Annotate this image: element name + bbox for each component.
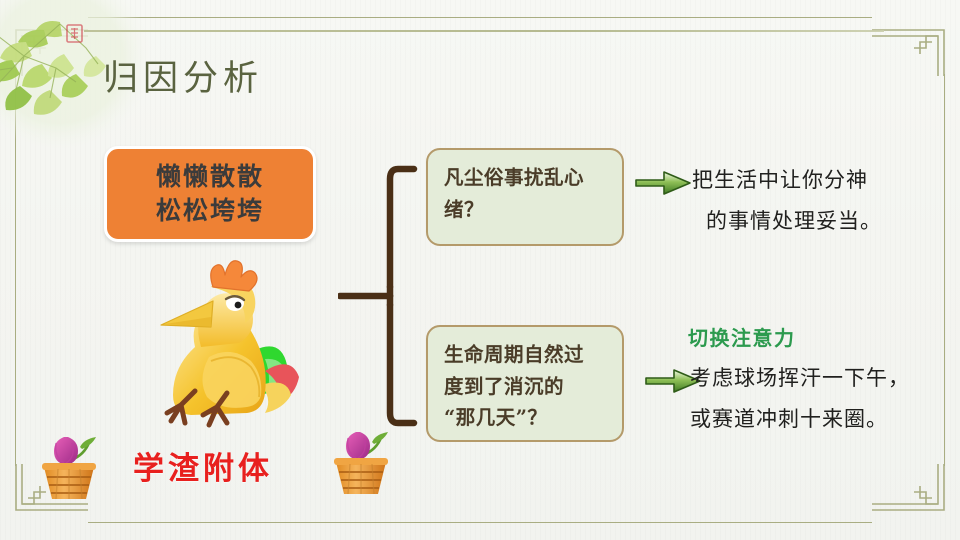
flower-basket-icon: [38, 425, 100, 503]
green-arrow-right-icon: [634, 168, 692, 198]
tired-rooster-icon: [135, 255, 305, 430]
red-seal-stamp-icon: [66, 24, 83, 43]
answer-line: 把生活中让你分神: [692, 160, 947, 201]
flower-basket-icon: [330, 420, 392, 498]
answer-heading: 切换注意力: [688, 322, 796, 351]
curly-brace-bracket-icon: [338, 163, 424, 429]
cause-box-line-2: 松松垮垮: [156, 194, 264, 229]
cause-box-line-1: 懒懒散散: [156, 160, 264, 195]
title-underline: [84, 30, 884, 32]
slide-canvas: 归因分析 懒懒散散 松松垮垮 凡尘俗事扰乱心 绪？ 生命周期自然过 度到了消沉的…: [0, 0, 960, 540]
question-box[interactable]: 生命周期自然过 度到了消沉的 “那几天”？: [426, 325, 624, 442]
question-line: “那几天”？: [444, 402, 606, 434]
question-box[interactable]: 凡尘俗事扰乱心 绪？: [426, 148, 624, 246]
question-line: 生命周期自然过: [444, 339, 606, 371]
frame-corner-icon: [868, 16, 946, 78]
frame-line-left: [15, 74, 16, 466]
answer-line: 考虑球场挥汗一下午，: [690, 358, 952, 399]
question-line: 凡尘俗事扰乱心: [444, 162, 606, 194]
answer-text: 把生活中让你分神 的事情处理妥当。: [692, 160, 947, 242]
page-title: 归因分析: [103, 50, 263, 101]
frame-corner-icon: [868, 462, 946, 524]
answer-line: 的事情处理妥当。: [706, 201, 947, 242]
cause-box[interactable]: 懒懒散散 松松垮垮: [104, 146, 316, 242]
frame-line-bottom: [88, 522, 872, 523]
frame-line-top: [88, 17, 872, 18]
question-line: 绪？: [444, 194, 606, 226]
answer-text: 考虑球场挥汗一下午， 或赛道冲刺十来圈。: [690, 358, 952, 440]
caption-text: 学渣附体: [133, 443, 273, 488]
answer-line: 或赛道冲刺十来圈。: [690, 399, 952, 440]
question-line: 度到了消沉的: [444, 371, 606, 403]
